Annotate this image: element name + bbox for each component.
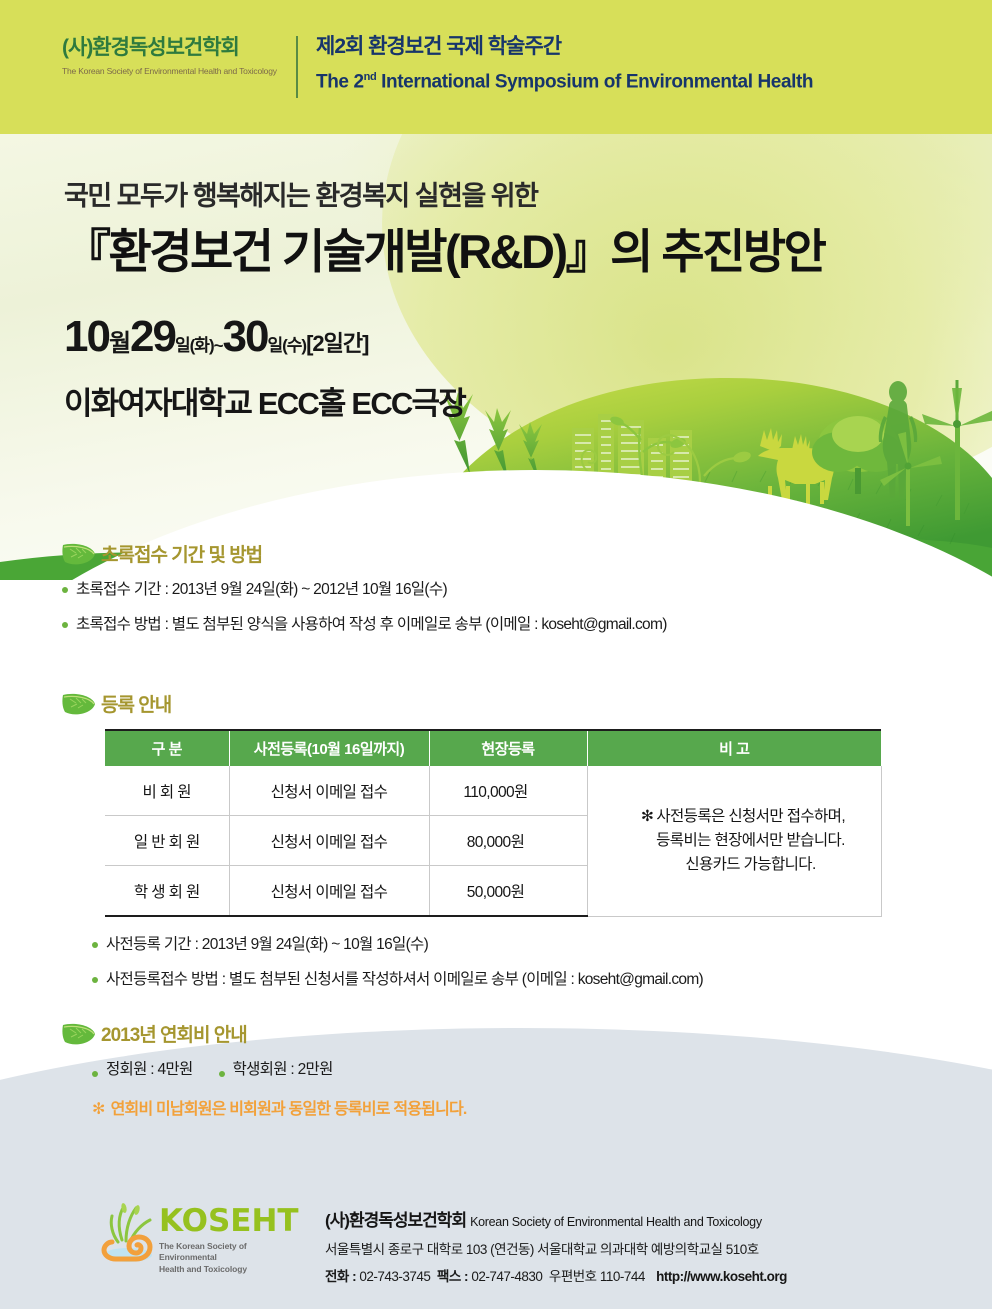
date-day-start: 29 <box>130 312 175 361</box>
cell-category: 일 반 회 원 <box>105 816 229 866</box>
zip-code: 110-744 <box>600 1269 645 1284</box>
list-item: 초록접수 방법 : 별도 첨부된 양식을 사용하여 작성 후 이메일로 송부 (… <box>62 615 667 636</box>
hero-title: 『환경보건 기술개발(R&D)』의 추진방안 <box>64 226 824 279</box>
tel-label: 전화 : <box>325 1269 356 1284</box>
date-month: 10 <box>64 312 109 361</box>
organization-address: 서울특별시 종로구 대학로 103 (연건동) 서울대학교 의과대학 예방의학교… <box>325 1238 787 1258</box>
annual-fee-section-header: 2013년 연회비 안내 <box>62 1020 467 1047</box>
cell-preregistration: 신청서 이메일 접수 <box>229 816 429 866</box>
date-day-start-unit: 일(화)~ <box>175 336 223 355</box>
column-header-onsite: 현장등록 <box>429 730 587 766</box>
cell-preregistration: 신청서 이메일 접수 <box>229 766 429 816</box>
remarks-line-3: 신용카드 가능합니다. <box>606 853 881 877</box>
abstract-section-header: 초록접수 기간 및 방법 <box>62 540 667 567</box>
leaf-icon <box>62 1022 96 1047</box>
annual-fee-section-title: 2013년 연회비 안내 <box>101 1020 247 1047</box>
date-duration: [2일간] <box>306 331 368 356</box>
website-link[interactable]: http://www.koseht.org <box>656 1269 787 1284</box>
cell-preregistration: 신청서 이메일 접수 <box>229 866 429 917</box>
koseht-emblem-icon <box>100 1200 156 1264</box>
leaf-icon <box>62 692 96 717</box>
logo-word-text: KOSEHT <box>159 1206 305 1237</box>
table-header-row: 구 분 사전등록(10월 16일까지) 현장등록 비 고 <box>105 730 881 766</box>
cell-onsite-fee: 110,000원 <box>429 766 587 816</box>
logo-tagline: The Korean Society of Environmental Heal… <box>159 1241 305 1275</box>
contact-info: (사)환경독성보건학회Korean Society of Environment… <box>325 1206 787 1285</box>
fee-student-member: 학생회원 : 2만원 <box>233 1060 333 1081</box>
table-row: 비 회 원 신청서 이메일 접수 110,000원 ✻사전등록은 신청서만 접수… <box>105 766 881 816</box>
tel-number: 02-743-3745 <box>359 1269 430 1284</box>
list-item: 초록접수 기간 : 2013년 9월 24일(화) ~ 2012년 10월 16… <box>62 580 667 601</box>
fax-label: 팩스 : <box>437 1269 468 1284</box>
column-header-remarks: 비 고 <box>587 730 881 766</box>
date-month-unit: 월 <box>109 330 130 357</box>
abstract-section: 초록접수 기간 및 방법 초록접수 기간 : 2013년 9월 24일(화) ~… <box>62 540 667 650</box>
abstract-section-title: 초록접수 기간 및 방법 <box>101 540 262 567</box>
prereg-period-text: 사전등록 기간 : 2013년 9월 24일(화) ~ 10월 16일(수) <box>106 935 428 956</box>
remarks-line-1: 사전등록은 신청서만 접수하며, <box>656 808 845 825</box>
annual-fee-section: 2013년 연회비 안내 정회원 : 4만원 학생회원 : 2만원 ✻연회비 미… <box>62 1020 467 1119</box>
abstract-period-text: 초록접수 기간 : 2013년 9월 24일(화) ~ 2012년 10월 16… <box>76 580 447 601</box>
column-header-category: 구 분 <box>105 730 229 766</box>
zip-label: 우편번호 <box>549 1269 597 1284</box>
annual-fee-warning-text: 연회비 미납회원은 비회원과 동일한 등록비로 적용됩니다. <box>111 1101 467 1118</box>
abstract-method-text: 초록접수 방법 : 별도 첨부된 양식을 사용하여 작성 후 이메일로 송부 (… <box>76 615 667 636</box>
cell-category: 학 생 회 원 <box>105 866 229 917</box>
hero-headline: 국민 모두가 행복해지는 환경복지 실현을 위한 『환경보건 기술개발(R&D)… <box>64 180 824 279</box>
fee-regular-member: 정회원 : 4만원 <box>106 1060 193 1081</box>
asterisk-marker: ✻ <box>641 808 653 825</box>
bullet-dot-icon <box>62 622 68 628</box>
list-item: 정회원 : 4만원 학생회원 : 2만원 <box>92 1060 467 1081</box>
annual-fee-warning: ✻연회비 미납회원은 비회원과 동일한 등록비로 적용됩니다. <box>92 1095 467 1119</box>
organization-contacts: 전화 : 02-743-3745 팩스 : 02-747-4830 우편번호 1… <box>325 1265 787 1285</box>
registration-section-header: 등록 안내 <box>62 690 882 717</box>
date-day-end-unit: 일(수) <box>267 336 306 355</box>
koseht-logo: KOSEHT The Korean Society of Environment… <box>100 1200 305 1275</box>
bullet-dot-icon <box>92 977 98 983</box>
cell-onsite-fee: 80,000원 <box>429 816 587 866</box>
koseht-wordmark: KOSEHT The Korean Society of Environment… <box>159 1200 305 1275</box>
date-day-end: 30 <box>223 312 268 361</box>
logo-tagline-line-1: The Korean Society of Environmental <box>159 1241 305 1264</box>
registration-fee-table: 구 분 사전등록(10월 16일까지) 현장등록 비 고 비 회 원 신청서 이… <box>105 729 882 917</box>
fax-number: 02-747-4830 <box>471 1269 542 1284</box>
event-date: 10월29일(화)~30일(수)[2일간] <box>64 312 368 362</box>
bullet-dot-icon <box>62 587 68 593</box>
poster-footer: KOSEHT The Korean Society of Environment… <box>0 1192 992 1309</box>
abstract-bullet-list: 초록접수 기간 : 2013년 9월 24일(화) ~ 2012년 10월 16… <box>62 580 667 636</box>
event-venue: 이화여자대학교 ECC홀 ECC극장 <box>64 378 465 423</box>
bullet-dot-icon <box>92 1071 98 1077</box>
cell-category: 비 회 원 <box>105 766 229 816</box>
org-name-english: Korean Society of Environmental Health a… <box>470 1215 762 1229</box>
bullet-dot-icon <box>92 942 98 948</box>
cell-onsite-fee: 50,000원 <box>429 866 587 917</box>
registration-section: 등록 안내 구 분 사전등록(10월 16일까지) 현장등록 비 고 <box>62 690 882 1005</box>
list-item: 사전등록접수 방법 : 별도 첨부된 신청서를 작성하셔서 이메일로 송부 (이… <box>92 970 882 991</box>
leaf-icon <box>62 542 96 567</box>
logo-tagline-line-2: Health and Toxicology <box>159 1264 305 1275</box>
column-header-preregistration: 사전등록(10월 16일까지) <box>229 730 429 766</box>
poster-root: (사)환경독성보건학회 The Korean Society of Enviro… <box>0 0 992 1309</box>
hero-subtitle: 국민 모두가 행복해지는 환경복지 실현을 위한 <box>64 180 824 212</box>
remarks-line-2: 등록비는 현장에서만 받습니다. <box>606 829 881 853</box>
registration-bullet-list: 사전등록 기간 : 2013년 9월 24일(화) ~ 10월 16일(수) 사… <box>92 935 882 991</box>
bullet-dot-icon <box>219 1071 225 1077</box>
registration-section-title: 등록 안내 <box>101 690 171 717</box>
asterisk-marker: ✻ <box>92 1101 105 1118</box>
poster-content: 국민 모두가 행복해지는 환경복지 실현을 위한 『환경보건 기술개발(R&D)… <box>0 0 992 1309</box>
organization-name-line: (사)환경독성보건학회Korean Society of Environment… <box>325 1206 787 1231</box>
cell-remarks: ✻사전등록은 신청서만 접수하며, 등록비는 현장에서만 받습니다. 신용카드 … <box>587 766 881 916</box>
annual-fee-list: 정회원 : 4만원 학생회원 : 2만원 ✻연회비 미납회원은 비회원과 동일한… <box>92 1060 467 1119</box>
list-item: 사전등록 기간 : 2013년 9월 24일(화) ~ 10월 16일(수) <box>92 935 882 956</box>
prereg-method-text: 사전등록접수 방법 : 별도 첨부된 신청서를 작성하셔서 이메일로 송부 (이… <box>106 970 703 991</box>
org-name-korean: (사)환경독성보건학회 <box>325 1211 466 1230</box>
